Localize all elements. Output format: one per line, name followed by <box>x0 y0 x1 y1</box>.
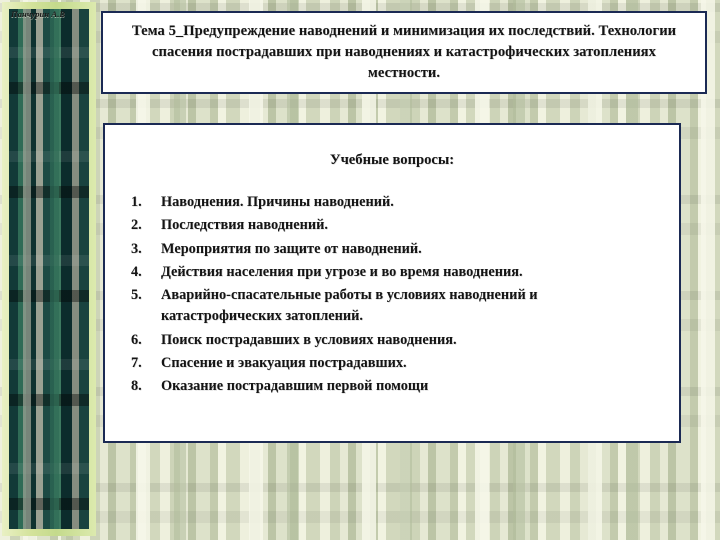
question-item: Последствия наводнений. <box>123 215 661 236</box>
title-panel: Тема 5_Предупреждение наводнений и миним… <box>101 11 707 94</box>
sidebar-camouflage-frame <box>2 2 96 536</box>
questions-heading: Учебные вопросы: <box>123 151 661 170</box>
questions-list: Наводнения. Причины наводнений.Последств… <box>123 192 661 398</box>
slide-canvas: Панчурин А.В Тема 5_Предупреждение навод… <box>0 0 720 540</box>
question-item: Поиск пострадавших в условиях наводнения… <box>123 330 661 351</box>
question-item: Оказание пострадавшим первой помощи <box>123 376 661 397</box>
question-item: Спасение и эвакуация пострадавших. <box>123 353 661 374</box>
content-panel: Учебные вопросы: Наводнения. Причины нав… <box>103 123 681 443</box>
question-item: Мероприятия по защите от наводнений. <box>123 239 661 260</box>
question-item: Действия населения при угрозе и во время… <box>123 262 661 283</box>
sidebar-camouflage-panel <box>9 9 89 529</box>
question-item: Наводнения. Причины наводнений. <box>123 192 661 213</box>
question-item: Аварийно-спасательные работы в условиях … <box>123 285 661 328</box>
author-watermark: Панчурин А.В <box>11 10 65 19</box>
slide-title: Тема 5_Предупреждение наводнений и миним… <box>117 21 691 83</box>
